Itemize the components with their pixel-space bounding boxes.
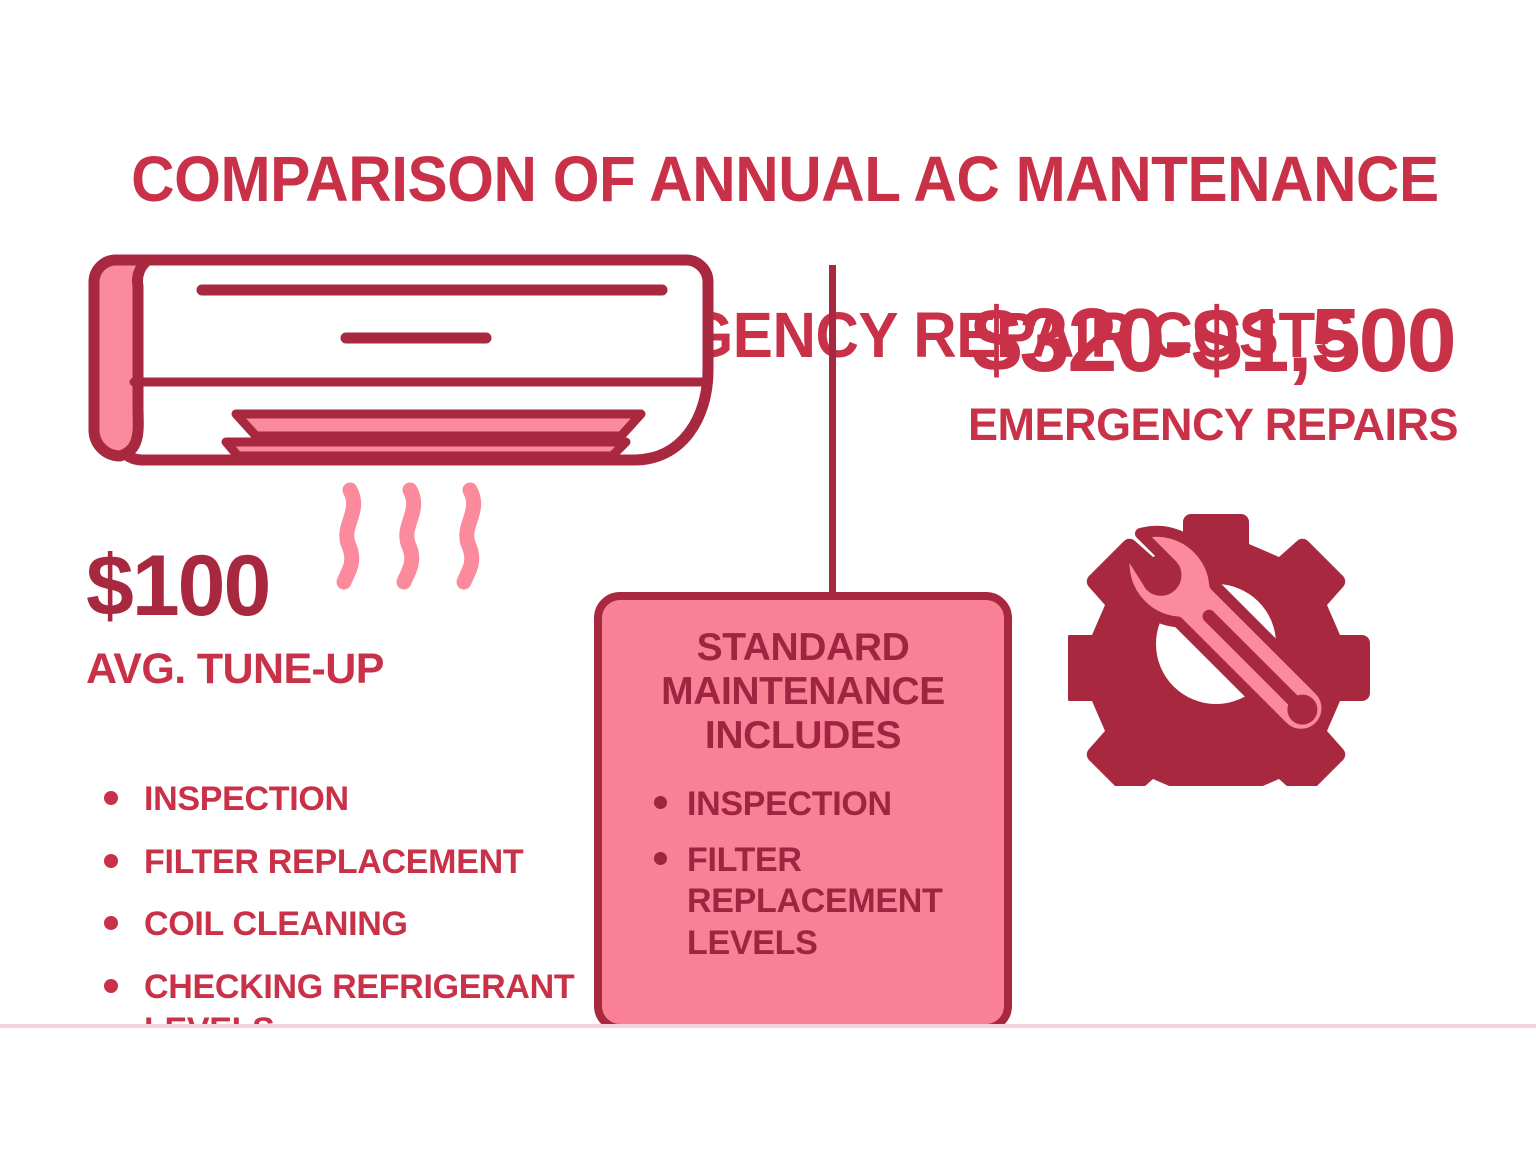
- left-maintenance-list: INSPECTION FILTER REPLACEMENT COIL CLEAN…: [88, 778, 608, 1026]
- list-item-label: COIL CLEANING: [144, 903, 608, 947]
- list-item-label: INSPECTION: [144, 778, 608, 822]
- list-item: CHECKING REFRIGERANT LEVELS: [88, 966, 608, 1026]
- right-price-block: $320-$1,500 EMERGENCY REPAIRS: [890, 296, 1536, 450]
- bullet-icon: [104, 791, 118, 805]
- left-price-caption: AVG. TUNE-UP: [86, 646, 606, 693]
- list-item: FILTER REPLACEMENT LEVELS: [624, 840, 982, 964]
- infographic-content: COMPARISON OF ANNUAL AC MANTENANCE COSTS…: [0, 0, 1536, 1026]
- bullet-icon: [654, 796, 667, 809]
- bullet-icon: [104, 979, 118, 993]
- list-item: INSPECTION: [88, 778, 608, 822]
- bullet-icon: [654, 852, 667, 865]
- list-item-label: FILTER REPLACEMENT: [144, 841, 608, 885]
- list-item-label: INSPECTION: [687, 784, 982, 825]
- list-item-label: CHECKING REFRIGERANT LEVELS: [144, 966, 608, 1026]
- gear-wrench-icon: [1068, 496, 1408, 786]
- right-price-amount: $320-$1,500: [890, 296, 1536, 386]
- list-item: COIL CLEANING: [88, 903, 608, 947]
- card-list: INSPECTION FILTER REPLACEMENT LEVELS: [624, 784, 982, 964]
- page-title-line-1: COMPARISON OF ANNUAL AC MANTENANCE: [63, 140, 1507, 218]
- bottom-divider: [0, 1024, 1536, 1028]
- standard-maintenance-card: STANDARD MAINTENANCE INCLUDES INSPECTION…: [594, 592, 1012, 1026]
- list-item-label: FILTER REPLACEMENT LEVELS: [687, 840, 982, 964]
- list-item: INSPECTION: [624, 784, 982, 825]
- right-price-caption: EMERGENCY REPAIRS: [890, 400, 1536, 450]
- bullet-icon: [104, 916, 118, 930]
- left-price-amount: $100: [86, 546, 606, 628]
- left-price-block: $100 AVG. TUNE-UP: [86, 546, 606, 693]
- connector-line: [829, 265, 836, 595]
- air-conditioner-icon: [86, 252, 716, 474]
- infographic-canvas: COMPARISON OF ANNUAL AC MANTENANCE COSTS…: [0, 0, 1536, 1154]
- bullet-icon: [104, 854, 118, 868]
- list-item: FILTER REPLACEMENT: [88, 841, 608, 885]
- card-title: STANDARD MAINTENANCE INCLUDES: [624, 626, 982, 758]
